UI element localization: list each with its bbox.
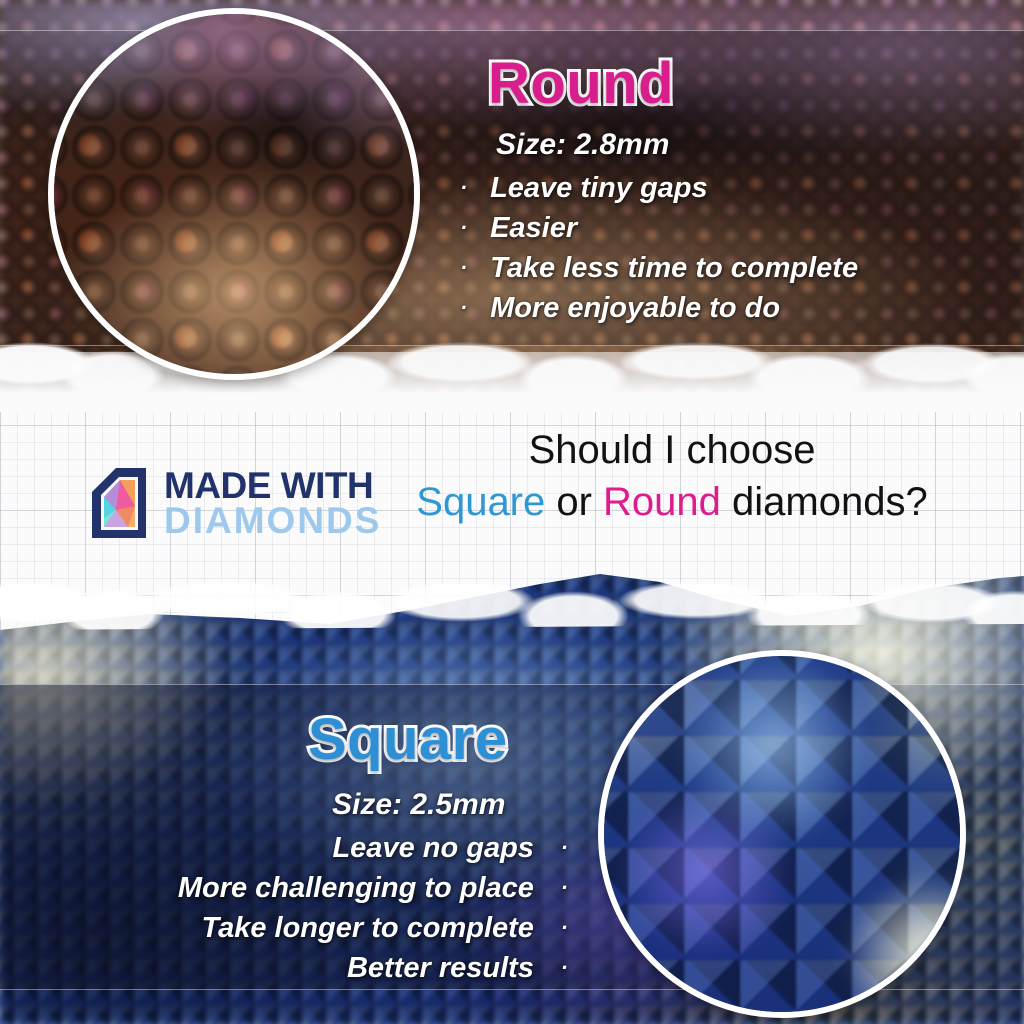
diamond-gem-icon: [88, 466, 150, 542]
logo-wordmark: MADE WITH DIAMONDS: [164, 469, 381, 539]
bullet-dot-icon: ·: [460, 248, 482, 288]
square-benefits-list: Leave no gaps · More challenging to plac…: [108, 828, 568, 988]
list-item: · Leave tiny gaps: [460, 168, 858, 208]
round-title: Round: [488, 50, 674, 117]
round-diamonds-inset-circle: [48, 8, 420, 380]
list-item: Leave no gaps ·: [108, 828, 568, 868]
list-item: · Take less time to complete: [460, 248, 858, 288]
square-size-value: Size: 2.5mm: [332, 788, 505, 821]
question-line-2: Square or Round diamonds?: [412, 476, 932, 528]
square-title: Square: [308, 706, 508, 773]
list-item-label: Easier: [490, 212, 577, 244]
list-item-label: More challenging to place: [178, 872, 534, 904]
list-item: Take longer to complete ·: [108, 908, 568, 948]
bullet-dot-icon: ·: [542, 908, 568, 948]
list-item-label: Take less time to complete: [490, 252, 858, 284]
list-item-label: More enjoyable to do: [490, 292, 780, 324]
infographic-canvas: Round Size: 2.8mm · Leave tiny gaps · Ea…: [0, 0, 1024, 1024]
question-line-1: Should I choose: [412, 424, 932, 476]
logo-line-made-with: MADE WITH: [164, 469, 381, 504]
bullet-dot-icon: ·: [460, 288, 482, 328]
round-title-text: Round: [488, 51, 674, 116]
question-word-square: Square: [416, 480, 545, 524]
logo-line-diamonds: DIAMONDS: [164, 504, 381, 539]
round-inset-photo: [48, 8, 420, 380]
square-diamonds-inset-circle: [598, 650, 966, 1018]
list-item: Better results ·: [108, 948, 568, 988]
question-word-tail: diamonds?: [721, 480, 928, 524]
bullet-dot-icon: ·: [542, 948, 568, 988]
list-item-label: Leave tiny gaps: [490, 172, 708, 204]
headline-question: Should I choose Square or Round diamonds…: [412, 424, 932, 528]
list-item: · Easier: [460, 208, 858, 248]
question-word-or: or: [545, 480, 603, 524]
list-item: More challenging to place ·: [108, 868, 568, 908]
bullet-dot-icon: ·: [542, 828, 568, 868]
list-item-label: Better results: [347, 952, 534, 984]
list-item-label: Take longer to complete: [201, 912, 534, 944]
question-word-round: Round: [603, 480, 721, 524]
square-title-text: Square: [308, 707, 508, 772]
list-item: · More enjoyable to do: [460, 288, 858, 328]
bullet-dot-icon: ·: [542, 868, 568, 908]
round-size-line: Size: 2.8mm: [496, 128, 669, 162]
round-size-value: Size: 2.8mm: [496, 128, 669, 161]
bullet-dot-icon: ·: [460, 208, 482, 248]
square-size-line: Size: 2.5mm: [332, 788, 505, 822]
bullet-dot-icon: ·: [460, 168, 482, 208]
square-inset-photo: [598, 650, 966, 1018]
round-benefits-list: · Leave tiny gaps · Easier · Take less t…: [460, 168, 858, 328]
list-item-label: Leave no gaps: [332, 832, 533, 864]
brand-logo[interactable]: MADE WITH DIAMONDS: [88, 466, 381, 542]
